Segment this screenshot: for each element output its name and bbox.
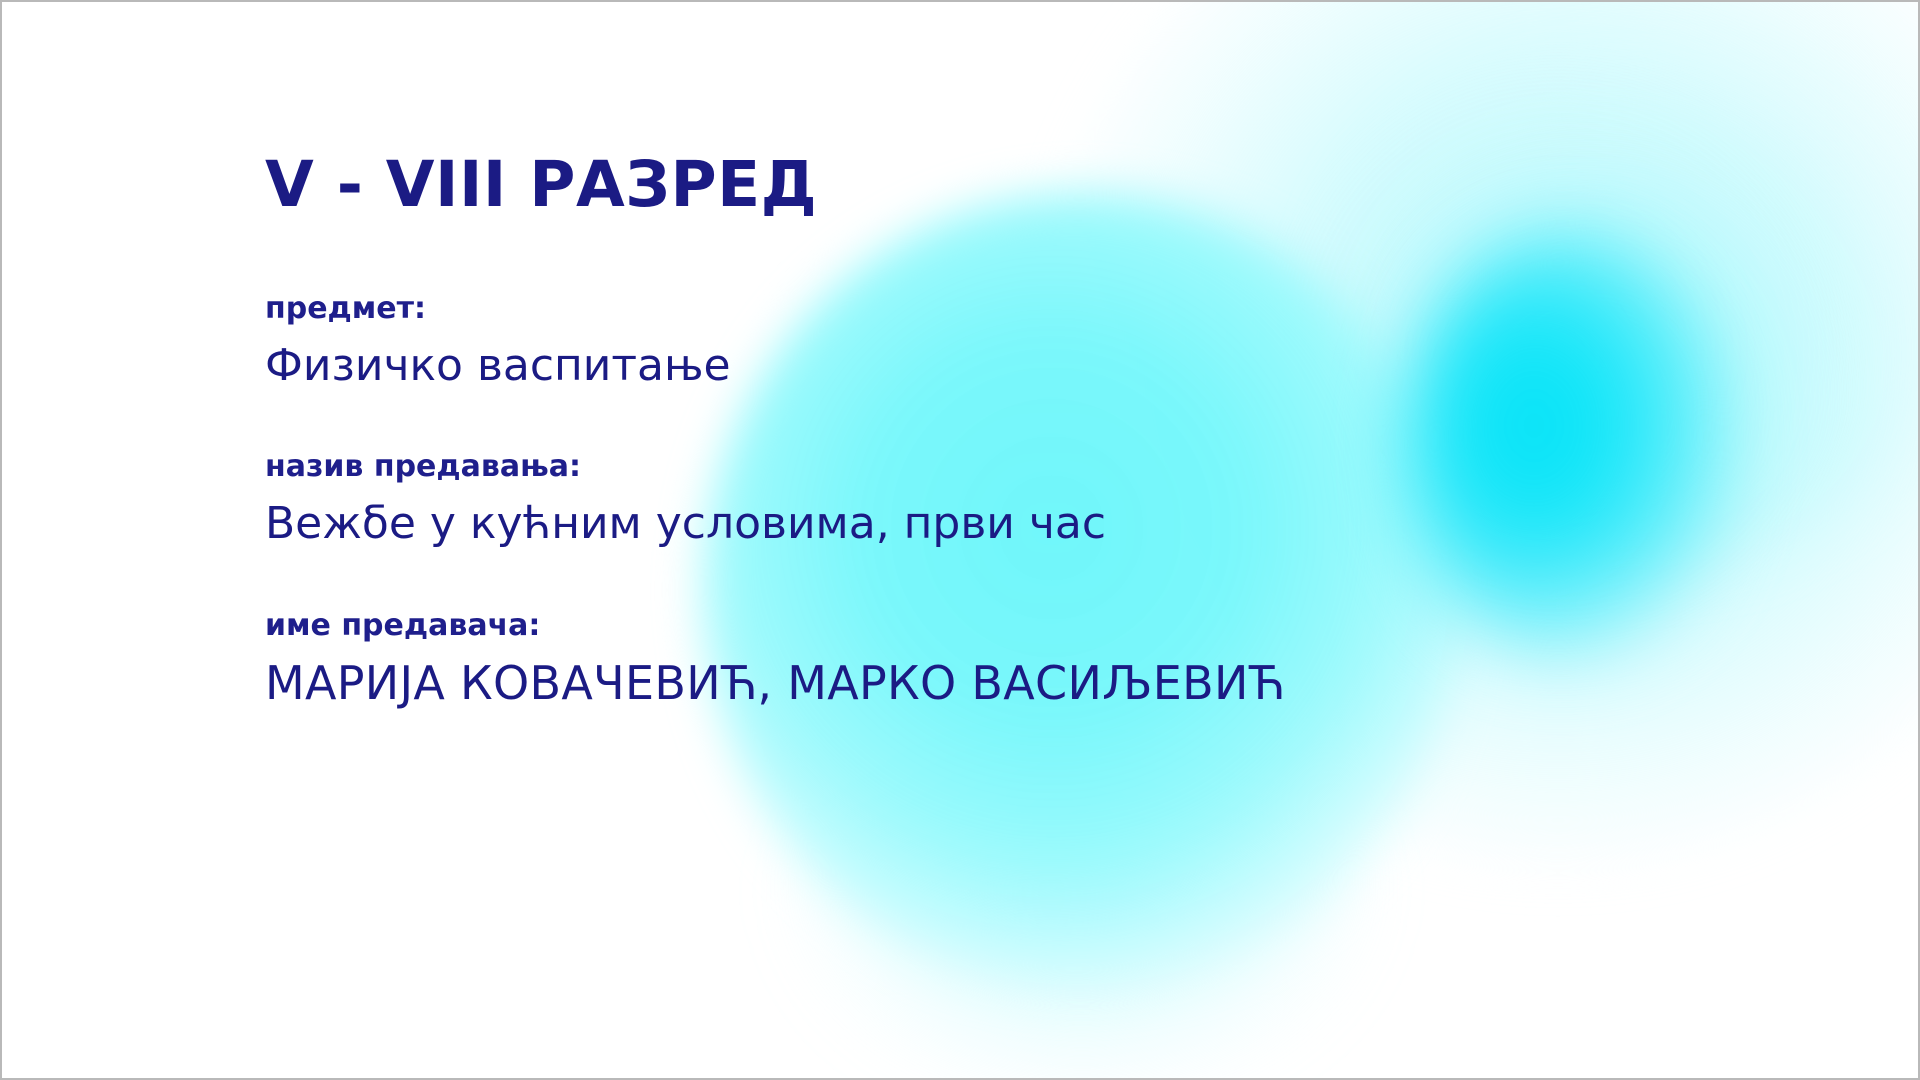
lecturer-name-value: МАРИЈА КОВАЧЕВИЋ, МАРКО ВАСИЉЕВИЋ (265, 656, 1565, 711)
lower-tail-blob-decoration (802, 722, 1362, 1078)
slide-content: V - VIII РАЗРЕД предмет: Физичко васпита… (265, 152, 1565, 711)
field-lecture-title: назив предавања: Вежбе у кућним условима… (265, 448, 1565, 550)
page-title: V - VIII РАЗРЕД (265, 152, 1565, 218)
subject-label: предмет: (265, 290, 1565, 328)
lesson-title-slide: V - VIII РАЗРЕД предмет: Физичко васпита… (0, 0, 1920, 1080)
field-lecturer-name: име предавача: МАРИЈА КОВАЧЕВИЋ, МАРКО В… (265, 607, 1565, 712)
field-subject: предмет: Физичко васпитање (265, 290, 1565, 392)
lecture-title-label: назив предавања: (265, 448, 1565, 486)
lecturer-name-label: име предавача: (265, 607, 1565, 645)
lecture-title-value: Вежбе у кућним условима, први час (265, 498, 1565, 551)
subject-value: Физичко васпитање (265, 340, 1565, 393)
